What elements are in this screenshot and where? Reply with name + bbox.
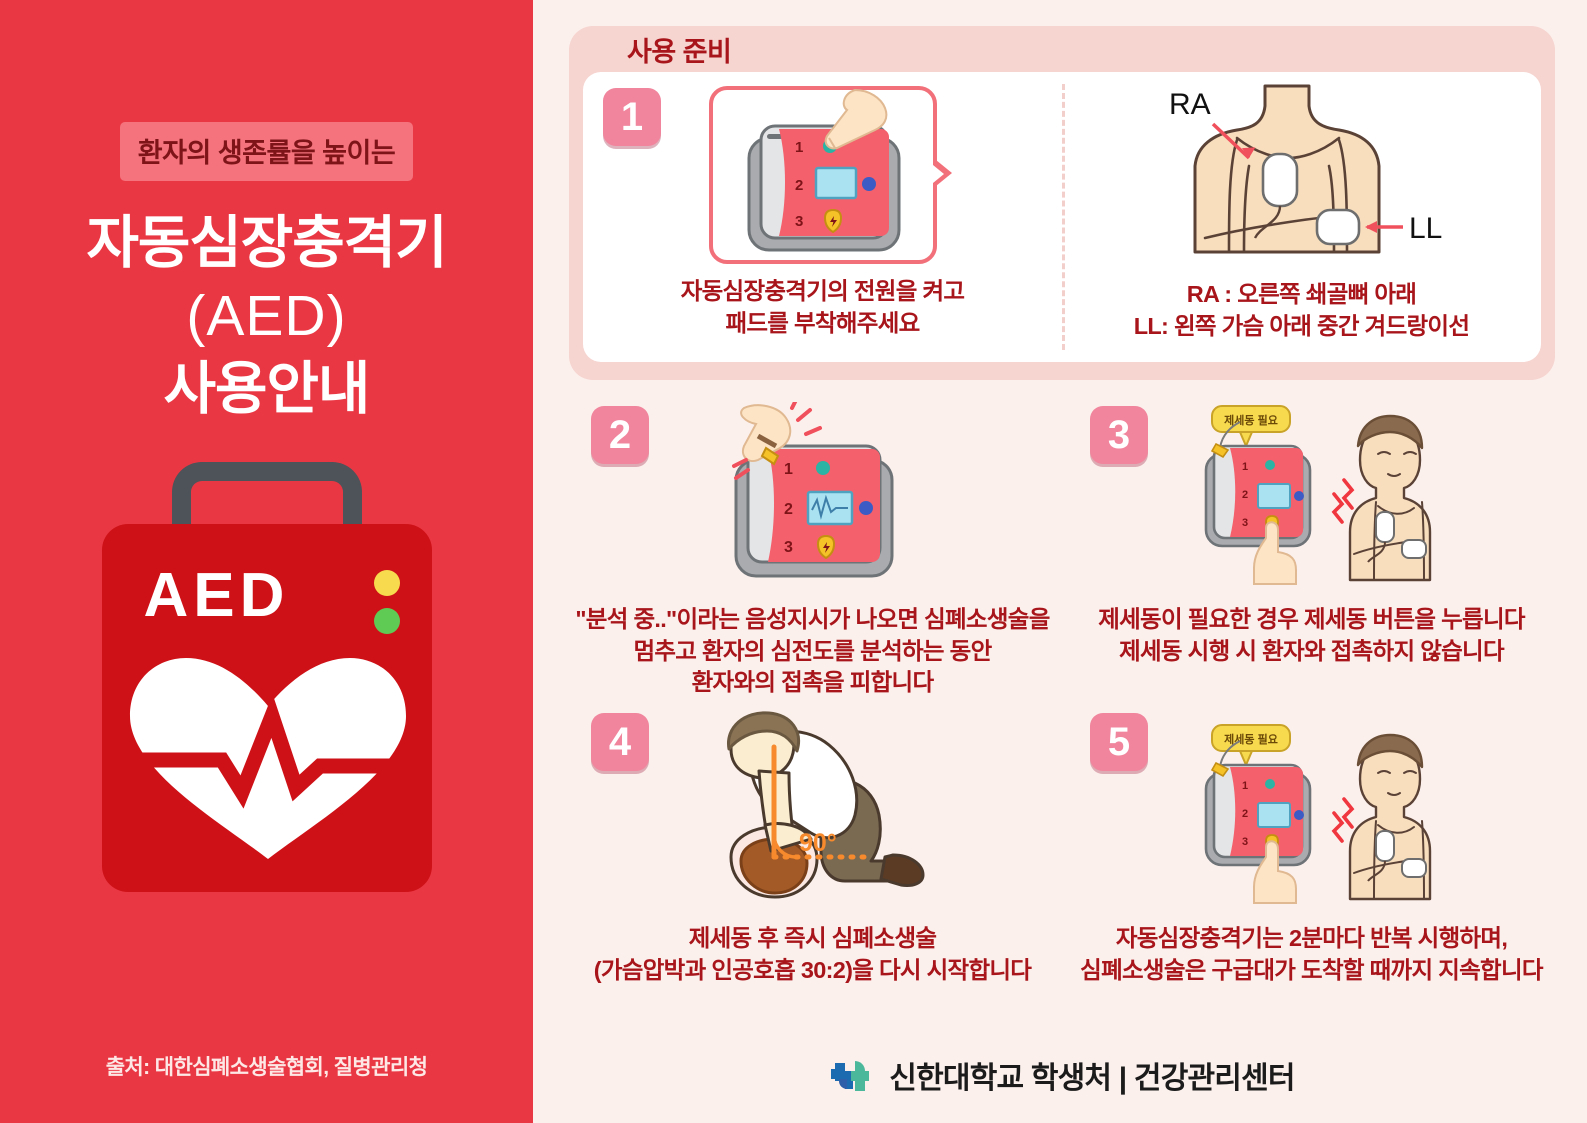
step-3-caption: 제세동이 필요한 경우 제세동 버튼을 누릅니다 제세동 시행 시 환자와 접촉… [1068, 604, 1555, 667]
step-5-caption: 자동심장충격기는 2분마다 반복 시행하며, 심폐소생술은 구급대가 도착할 때… [1068, 923, 1555, 986]
device-key-1: 1 [784, 461, 793, 478]
bubble-text: 제세동 필요 [1224, 413, 1278, 427]
left-title-panel: 환자의 생존률을 높이는 자동심장충격기 (AED) 사용안내 AED 출처: … [0, 0, 533, 1123]
device-key-3: 3 [795, 213, 803, 230]
page-title: 자동심장충격기 (AED) 사용안내 [86, 207, 446, 426]
footer: 신한대학교 학생처 | 건강관리센터 [533, 1053, 1587, 1097]
shock-button-press-repeat-icon: 제세동 필요 1 2 3 [1192, 721, 1432, 907]
device-key-1: 1 [795, 139, 803, 156]
pad-label-ll: LL [1409, 212, 1442, 245]
device-key-2: 2 [1242, 489, 1248, 501]
title-line-1: 자동심장충격기 [86, 207, 446, 280]
step-cell-5: 5 제세동 필요 1 2 3 [1068, 709, 1555, 999]
aed-device-illustration: AED [102, 462, 432, 892]
device-key-2: 2 [1242, 808, 1248, 820]
step-badge-3: 3 [1090, 406, 1148, 464]
step-badge-1: 1 [603, 88, 661, 146]
step-badge-4: 4 [591, 713, 649, 771]
prep-step-1: 1 1 [583, 72, 1062, 362]
steps-panel: 사용 준비 1 [533, 0, 1587, 1123]
device-key-2: 2 [784, 501, 793, 518]
prep-section-tab: 사용 준비 [583, 26, 1541, 72]
title-line-3: 사용안내 [86, 353, 446, 426]
status-led-yellow-icon [374, 570, 400, 596]
status-led-green-icon [374, 608, 400, 634]
shock-button-press-icon: 제세동 필요 1 2 3 [1192, 402, 1432, 588]
device-key-2: 2 [795, 177, 803, 194]
footer-text: 신한대학교 학생처 | 건강관리센터 [889, 1053, 1294, 1097]
prep-card: 1 1 [583, 72, 1541, 362]
torso-illustration: RA LL [1087, 80, 1517, 275]
step-2-caption: "분석 중.."이라는 음성지시가 나오면 심폐소생술을 멈추고 환자의 심전도… [569, 604, 1056, 699]
shinhan-university-logo-icon [825, 1053, 873, 1097]
step-badge-2: 2 [591, 406, 649, 464]
step-cell-3: 3 제세동 필요 1 2 3 [1068, 402, 1555, 699]
pad-placement-caption: RA : 오른쪽 쇄골뼈 아래 LL: 왼쪽 가슴 아래 중간 겨드랑이선 [1134, 279, 1470, 342]
steps-grid: 2 1 2 3 [569, 402, 1555, 999]
pad-label-ra: RA [1169, 88, 1211, 121]
cpr-compression-icon: 90° [695, 709, 931, 907]
bubble-text: 제세동 필요 [1224, 732, 1278, 746]
heart-ecg-icon [124, 654, 412, 864]
aed-pad-peel-icon: 1 2 3 [718, 402, 908, 588]
pad-placement-diagram: RA LL RA : 오른쪽 쇄골뼈 아래 LL: 왼쪽 가슴 아래 중간 겨드… [1062, 72, 1541, 362]
step-1-illustration: 1 2 3 [709, 86, 937, 264]
step-4-caption: 제세동 후 즉시 심폐소생술 (가슴압박과 인공호흡 30:2)을 다시 시작합… [569, 923, 1056, 986]
aed-body: AED [102, 524, 432, 892]
aed-body-label: AED [144, 560, 290, 631]
source-note: 출처: 대한심폐소생술협회, 질병관리청 [0, 1051, 533, 1081]
aed-power-on-icon: 1 2 3 [709, 86, 937, 264]
device-key-3: 3 [1242, 517, 1248, 529]
step-1-caption: 자동심장충격기의 전원을 켜고 패드를 부착해주세요 [681, 276, 965, 339]
step-badge-5: 5 [1090, 713, 1148, 771]
prep-section-tab-label: 사용 준비 [627, 30, 731, 69]
title-line-2: (AED) [86, 280, 446, 353]
eyebrow-badge: 환자의 생존률을 높이는 [120, 122, 413, 181]
prep-section: 사용 준비 1 [569, 26, 1555, 380]
device-key-1: 1 [1242, 461, 1248, 473]
device-key-3: 3 [784, 539, 793, 556]
step-cell-4: 4 [569, 709, 1056, 999]
angle-label: 90° [799, 829, 837, 857]
step-cell-2: 2 1 2 3 [569, 402, 1056, 699]
aed-usage-poster: 환자의 생존률을 높이는 자동심장충격기 (AED) 사용안내 AED 출처: … [0, 0, 1587, 1123]
device-key-1: 1 [1242, 780, 1248, 792]
device-key-3: 3 [1242, 836, 1248, 848]
